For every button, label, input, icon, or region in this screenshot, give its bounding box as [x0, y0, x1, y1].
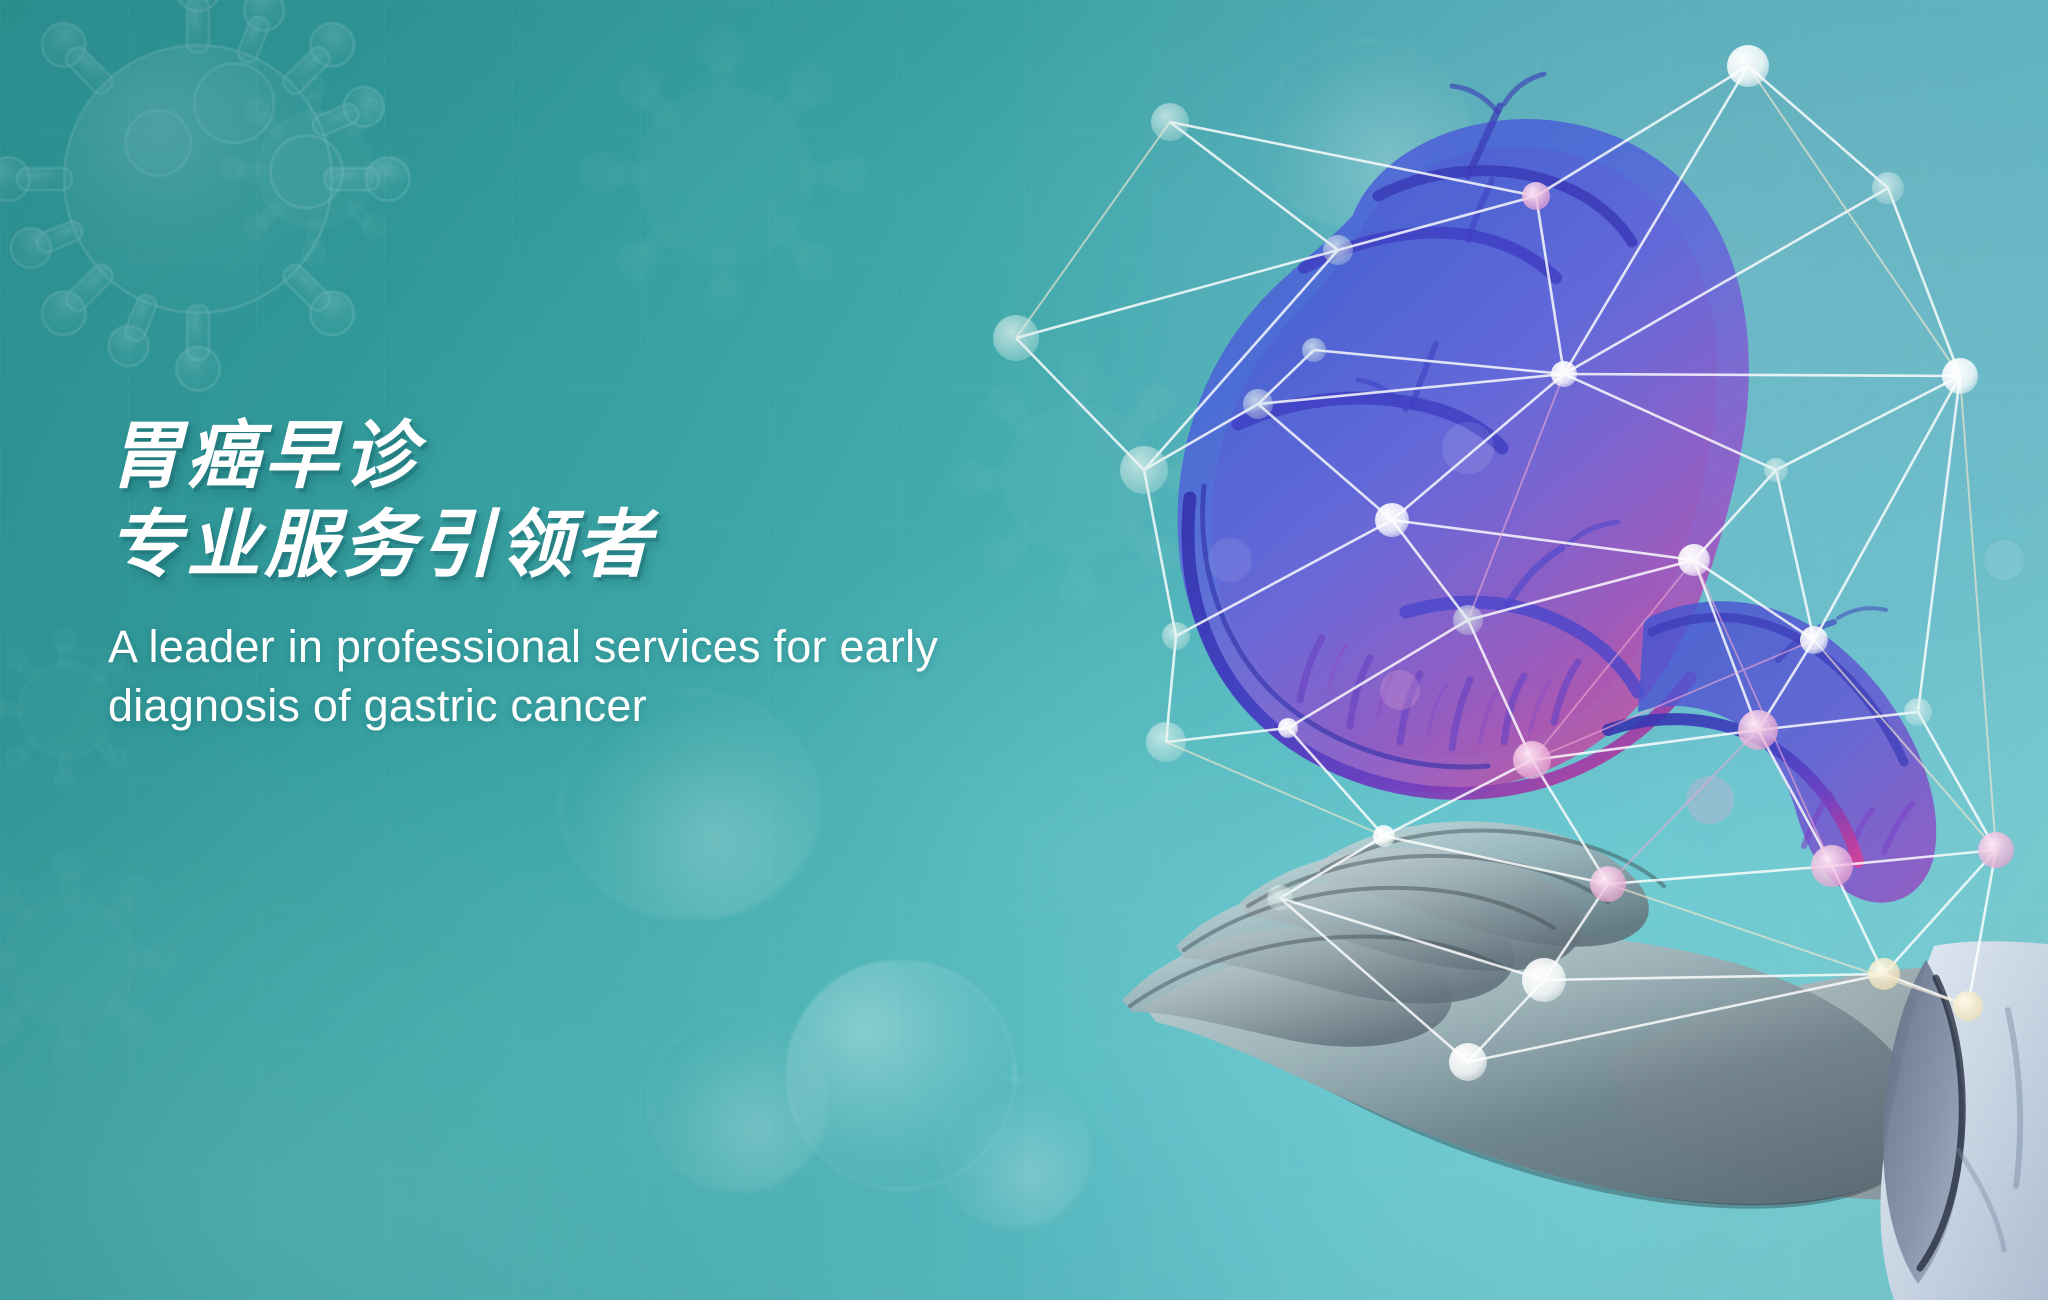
banner-copy: 胃癌早诊 专业服务引领者 A leader in professional se…: [108, 418, 938, 736]
network-node: [1243, 389, 1273, 419]
network-node: [1302, 338, 1326, 362]
network-node: [1727, 45, 1769, 87]
network-node: [1738, 710, 1778, 750]
duodenum-vessel: [1838, 608, 1886, 618]
network-node: [1942, 358, 1978, 394]
network-node-halo: [1208, 538, 1252, 582]
network-node: [1453, 605, 1483, 635]
network-node: [1764, 458, 1788, 482]
network-node: [1522, 182, 1550, 210]
network-node: [1513, 741, 1551, 779]
network-node: [1151, 103, 1189, 141]
headline-line-2: 专业服务引领者: [108, 507, 938, 582]
network-node: [1868, 958, 1900, 990]
network-node: [1449, 1043, 1487, 1081]
network-node: [1978, 832, 2014, 868]
network-node: [1551, 361, 1577, 387]
network-node: [1590, 866, 1626, 902]
subtitle: A leader in professional services for ea…: [108, 617, 938, 736]
network-node: [1811, 845, 1853, 887]
network-node: [1323, 235, 1353, 265]
network-node: [1120, 446, 1168, 494]
banner-root: 胃癌早诊 专业服务引领者 A leader in professional se…: [0, 0, 2048, 1300]
network-node: [1278, 718, 1298, 738]
network-node: [1522, 958, 1566, 1002]
network-node: [1953, 991, 1983, 1021]
network-node: [1678, 544, 1710, 576]
network-node-halo: [1984, 540, 2024, 580]
network-node: [1146, 722, 1186, 762]
subtitle-line-1: A leader in professional services for ea…: [108, 617, 938, 676]
network-node: [1267, 885, 1293, 911]
network-node: [993, 315, 1039, 361]
headline-line-1: 胃癌早诊: [108, 418, 938, 493]
network-node: [1904, 698, 1932, 726]
network-node-halo: [1380, 670, 1420, 710]
network-node: [1373, 825, 1395, 847]
stomach-illustration: [1177, 74, 1936, 903]
network-node: [1872, 172, 1904, 204]
network-node: [1800, 626, 1828, 654]
network-node-halo: [1686, 776, 1734, 824]
network-node-halo: [1442, 422, 1494, 474]
stomach-vessel: [1504, 74, 1544, 104]
network-node: [1162, 622, 1190, 650]
network-node: [1375, 503, 1409, 537]
subtitle-line-2: diagnosis of gastric cancer: [108, 676, 938, 735]
hero-illustration: [908, 0, 2048, 1300]
stomach-vessel: [1452, 86, 1498, 112]
